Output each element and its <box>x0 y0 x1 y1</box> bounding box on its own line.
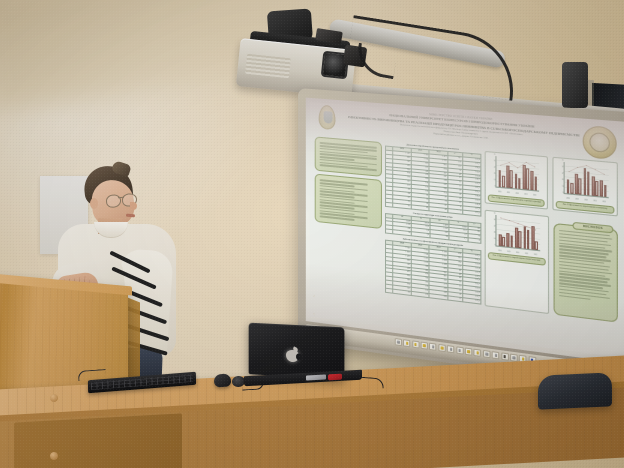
projector-wall-mount <box>562 62 588 108</box>
pen-icon[interactable] <box>395 338 402 346</box>
poster-column-tables: Динаміка виробництва продукції рослинниц… <box>385 142 481 358</box>
figure-2-plot: 70564228140 <box>556 160 615 204</box>
figure-2-y-ticks: 70564228140 <box>556 160 564 194</box>
podium-knob[interactable] <box>50 394 58 402</box>
lecture-room-scene: МІНІСТЕРСТВО ОСВІТИ І НАУКИ УКРАЇНИ НАЦІ… <box>0 0 624 468</box>
figure-1-axes <box>495 156 539 192</box>
pen-icon[interactable] <box>438 344 445 352</box>
laptop[interactable] <box>248 325 360 387</box>
undo-icon[interactable] <box>501 352 509 360</box>
figure-1-card: 70564228140 <box>485 151 548 209</box>
pen-icon[interactable] <box>412 340 419 348</box>
podium-knob[interactable] <box>50 452 58 460</box>
figure-3-card: 70564228140 <box>485 209 549 313</box>
figure-3-y-ticks: 70564228140 <box>488 213 496 246</box>
objectives-box <box>315 136 382 176</box>
pen-icon[interactable] <box>403 339 410 347</box>
poster-column-charts: 70564228140 <box>485 151 618 364</box>
pointer-icon[interactable] <box>474 349 481 357</box>
seal-grid <box>593 135 607 149</box>
desk-modesty-panel <box>14 413 182 468</box>
chart-row-bottom: 70564228140 <box>485 209 618 322</box>
data-table: 202020212022+/-% 2 1402 2652 398258112,1… <box>385 240 481 305</box>
chart-row-top: 70564228140 <box>485 151 618 216</box>
pointer-icon[interactable] <box>465 347 472 355</box>
marker-icon[interactable] <box>456 346 463 354</box>
figure-2-card: 70564228140 <box>552 157 617 216</box>
data-table: 202020212022+/-% 1 2451 3801 412167113,4… <box>385 146 481 217</box>
projector <box>252 0 502 98</box>
table-block-1: Динаміка виробництва продукції рослинниц… <box>385 142 481 216</box>
laptop-usb-drive[interactable] <box>328 374 342 381</box>
marker-icon[interactable] <box>447 345 454 353</box>
speaker-ear <box>90 198 98 209</box>
tasks-box <box>315 174 382 229</box>
figure-1-plot: 70564228140 <box>488 154 545 197</box>
projected-poster: МІНІСТЕРСТВО ОСВІТИ І НАУКИ УКРАЇНИ НАЦІ… <box>310 102 624 358</box>
office-chair[interactable] <box>538 372 612 409</box>
figure-1-y-ticks: 70564228140 <box>488 154 496 187</box>
figure-3-axes <box>495 214 540 250</box>
figure-2-axes <box>564 162 609 198</box>
eraser-icon[interactable] <box>421 342 428 350</box>
conclusion-wrap: ВИСНОВОК <box>553 216 618 322</box>
speaker-mouth <box>126 214 135 218</box>
conclusion-box: ВИСНОВОК <box>553 222 618 322</box>
apple-logo-icon <box>286 347 299 363</box>
print-icon[interactable] <box>492 351 500 359</box>
mouse[interactable] <box>214 373 232 387</box>
hand-icon[interactable] <box>483 350 491 358</box>
figure-3-plot: 70564228140 <box>488 213 546 257</box>
table-block-3: Забезпеченість та ефективність використа… <box>385 237 481 305</box>
whiteboard-screen[interactable]: МІНІСТЕРСТВО ОСВІТИ І НАУКИ УКРАЇНИ НАЦІ… <box>306 98 624 364</box>
pen-icon[interactable] <box>429 343 436 351</box>
speaker-nose <box>130 202 137 210</box>
